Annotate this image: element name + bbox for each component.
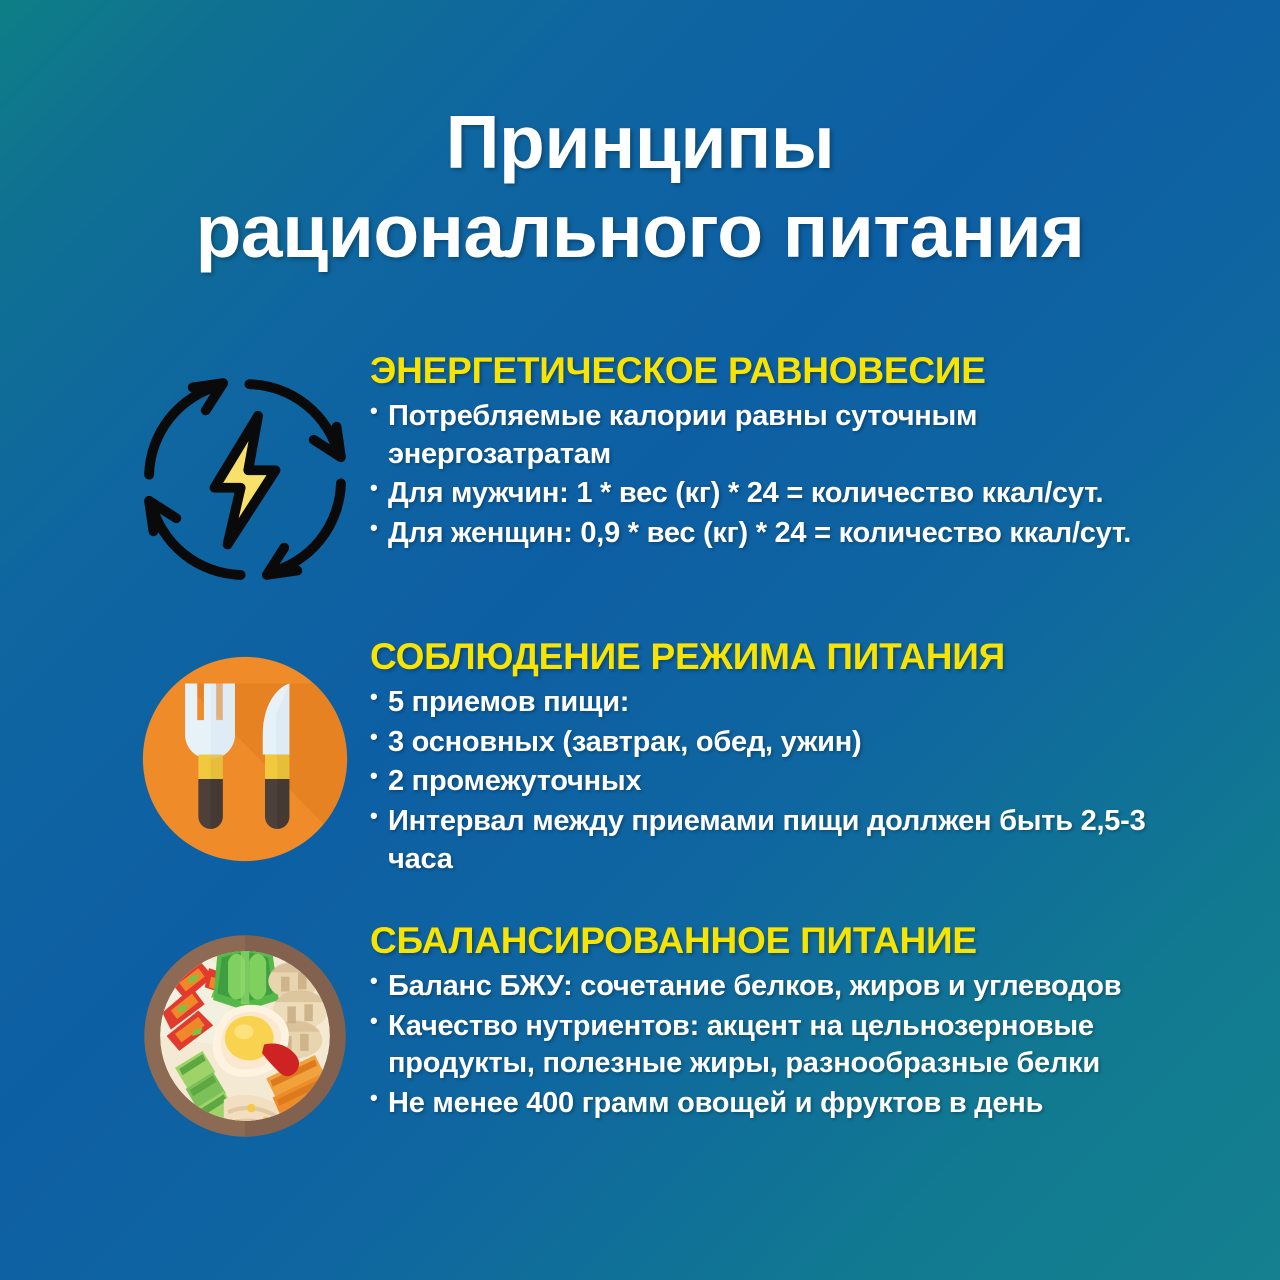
list-item: Баланс БЖУ: сочетание белков, жиров и уг… [370,968,1170,1006]
salad-bowl-icon [139,930,351,1142]
section-heading-balanced: СБАЛАНСИРОВАННОЕ ПИТАНИЕ [370,922,1170,959]
list-item: Качество нутриентов: акцент на цельнозер… [370,1008,1170,1083]
list-item: Для мужчин: 1 * вес (кг) * 24 = количест… [370,475,1170,513]
fork-knife-icon [134,648,356,870]
list-item: Потребляемые калории равны суточным энер… [370,398,1170,473]
section-energy-balance: ЭНЕРГЕТИЧЕСКОЕ РАВНОВЕСИЕ Потребляемые к… [120,352,1170,588]
title-line-1: Принципы [0,104,1280,181]
list-item: 2 промежуточных [370,763,1170,801]
list-item: Для женщин: 0,9 * вес (кг) * 24 = количе… [370,515,1170,553]
list-item: Интервал между приемами пищи доллжен быт… [370,803,1170,878]
list-item: 5 приемов пищи: [370,684,1170,722]
bullet-list-balanced: Баланс БЖУ: сочетание белков, жиров и уг… [370,968,1170,1123]
section-heading-regime: СОБЛЮДЕНИЕ РЕЖИМА ПИТАНИЯ [370,638,1170,675]
title-line-2: рационального питания [0,193,1280,270]
bullet-list-energy: Потребляемые калории равны суточным энер… [370,398,1170,553]
poster-title: Принципы рационального питания [0,104,1280,271]
bullet-list-regime: 5 приемов пищи: 3 основных (завтрак, обе… [370,684,1170,878]
section-meal-schedule: СОБЛЮДЕНИЕ РЕЖИМА ПИТАНИЯ 5 приемов пищи… [120,638,1170,880]
infographic-poster: Принципы рационального питания [0,0,1280,1280]
section-balanced-nutrition: СБАЛАНСИРОВАННОЕ ПИТАНИЕ Баланс БЖУ: соч… [120,922,1170,1142]
icon-container-regime [120,638,370,870]
text-container-regime: СОБЛЮДЕНИЕ РЕЖИМА ПИТАНИЯ 5 приемов пищи… [370,638,1170,880]
list-item: Не менее 400 грамм овощей и фруктов в де… [370,1085,1170,1123]
text-container-energy: ЭНЕРГЕТИЧЕСКОЕ РАВНОВЕСИЕ Потребляемые к… [370,352,1170,555]
list-item: 3 основных (завтрак, обед, ужин) [370,724,1170,762]
energy-cycle-icon [136,370,354,588]
icon-container-balanced [120,922,370,1142]
section-heading-energy: ЭНЕРГЕТИЧЕСКОЕ РАВНОВЕСИЕ [370,352,1170,389]
lightning-bolt-icon [214,416,275,545]
text-container-balanced: СБАЛАНСИРОВАННОЕ ПИТАНИЕ Баланс БЖУ: соч… [370,922,1170,1125]
icon-container-energy [120,352,370,588]
